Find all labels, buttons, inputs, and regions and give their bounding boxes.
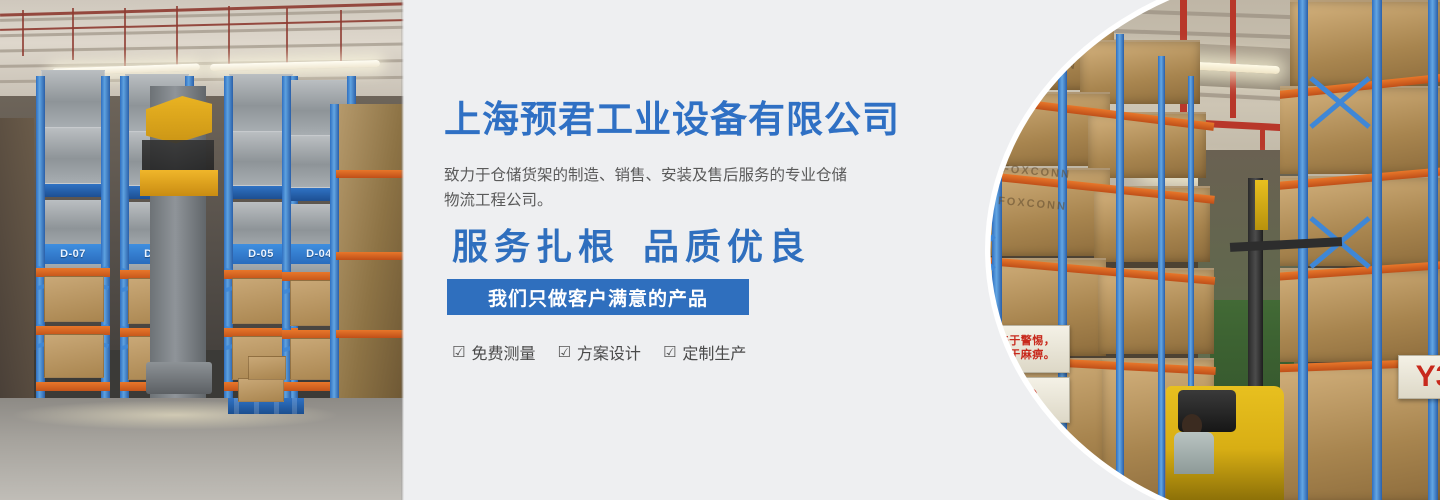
hanger-rod [22,10,24,56]
rack-upright [1158,56,1165,500]
slogan-part-left: 服务扎根 [452,227,620,267]
rack-label: D-07 [42,244,104,264]
hanger-rod [286,8,288,68]
hanger-rod [340,10,342,66]
rack-brace [950,334,996,371]
rack-brace [950,234,996,271]
cta-banner-button[interactable]: 我们只做客户满意的产品 [447,279,749,315]
feature-item-solution-design[interactable]: ☑ 方案设计 [557,340,640,364]
slogan-gap [620,227,643,267]
company-title: 上海预君工业设备有限公司 [444,101,900,138]
feature-list: ☑ 免费测量 ☑ 方案设计 ☑ 定制生产 [452,340,746,364]
feature-item-free-measure[interactable]: ☑ 免费测量 [452,340,535,364]
far-left-rack [0,118,34,400]
aisle-id-sign: Y3 [968,377,1070,423]
rack-upright [992,0,1002,500]
rack-upright [1058,8,1067,500]
feature-label: 方案设计 [577,340,641,364]
hero-banner: D-07 D-06 [0,0,1440,500]
turret-truck-base [146,362,212,394]
hanger-rod [176,6,178,66]
rack-beam [336,170,404,178]
rack-bay: D-07 [36,76,110,406]
storage-tote [41,70,105,128]
feature-label: 定制生产 [682,340,746,364]
rack-brace [950,134,996,171]
safety-sign-line-2: 事故出于麻痹。 [975,349,1056,363]
safety-slogan-sign: 安全来于警惕， 事故出于麻痹。 [960,325,1070,373]
rack-brace [950,134,996,171]
rack-upright [1298,0,1308,500]
right-photo-wrapper: FOXCONN FOXCONN FOXCONN FOXCONN [930,0,1440,500]
carton [44,276,104,322]
palletized-goods [942,358,1106,500]
left-warehouse-photo: D-07 D-06 [0,0,404,500]
turret-truck-body [140,170,218,196]
rack-beam [336,252,404,260]
reach-truck-mast-top [1255,180,1268,230]
aisle-id-text-far: Y3 [1416,358,1440,396]
checkbox-checked-icon: ☑ [663,345,676,360]
carton [248,356,286,380]
slogan-part-right: 品质优良 [643,227,811,267]
carton [44,334,104,378]
sprinkler-riser [1230,0,1236,118]
hanger-rod [124,8,126,66]
rack-shelf [36,184,110,197]
rack-upright [1116,34,1124,500]
hero-copy: 上海预君工业设备有限公司 致力于仓储货架的制造、销售、安装及售后服务的专业仓储物… [444,0,914,500]
carton-brand-text: FOXCONN [1008,52,1078,72]
rack-brace [950,334,996,371]
hanger-rod [72,8,74,60]
feature-label: 免费测量 [471,340,535,364]
aisle-id-text: Y3 [998,380,1039,420]
feature-item-custom-production[interactable]: ☑ 定制生产 [663,340,746,364]
rack-brace [950,44,996,81]
palletized-goods [1290,0,1440,86]
forklift-driver-torso [1174,432,1214,474]
checkbox-checked-icon: ☑ [452,345,465,360]
hero-slogan: 服务扎根 品质优良 [452,227,811,268]
storage-tote [41,128,105,184]
right-rack-run [1280,0,1440,500]
rack-beam [36,382,110,391]
safety-sign-line-1: 安全来于警惕， [975,335,1056,349]
left-photo-edge-fade [401,0,404,500]
rack-upright [1372,0,1382,500]
carton [238,378,284,402]
right-warehouse-photo: FOXCONN FOXCONN FOXCONN FOXCONN [930,0,1440,500]
carton-brand-text: FOXCONN [1006,26,1076,46]
checkbox-checked-icon: ☑ [557,345,570,360]
aisle-id-sign-far: Y3 [1398,355,1440,399]
rack-beam [336,330,404,338]
hanger-rod [228,6,230,68]
rack-brace [950,44,996,81]
rack-upright [946,0,956,500]
rack-upright [1428,0,1438,500]
company-subtitle: 致力于仓储货架的制造、销售、安装及售后服务的专业仓储物流工程公司。 [444,163,856,213]
rack-brace [950,234,996,271]
